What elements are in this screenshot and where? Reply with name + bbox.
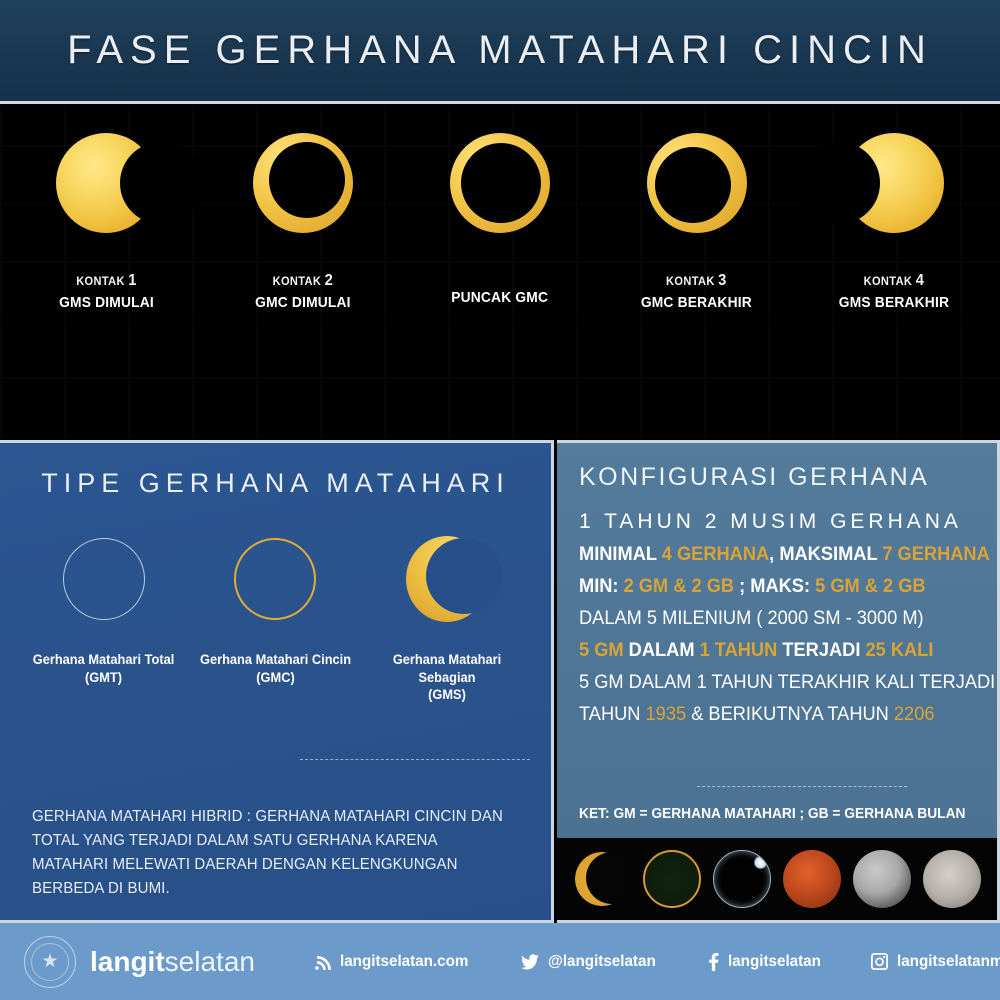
- brand-lockup: ★ langitselatan: [24, 936, 255, 988]
- infographic-root: FASE GERHANA MATAHARI CINCIN KONTAK 1 GM…: [0, 0, 1000, 1000]
- partial-lunar-eclipse-photo: [853, 850, 911, 908]
- facebook-handle: langitselatan: [728, 953, 821, 971]
- website-link[interactable]: langitselatan.com: [315, 953, 475, 971]
- header-banner: FASE GERHANA MATAHARI CINCIN: [0, 0, 1000, 104]
- footer-bar: ★ langitselatan langitselatan.com @langi…: [0, 923, 1000, 1000]
- phase-item-1: KONTAK 1 GMS DIMULAI: [11, 107, 201, 313]
- brand-name: langitselatan: [90, 946, 255, 978]
- facebook-icon: [708, 953, 719, 971]
- annular-eclipse-ring-icon: [234, 533, 316, 625]
- config-panel-title: KONFIGURASI GERHANA: [579, 463, 997, 492]
- total-eclipse-outline-icon: [63, 533, 145, 625]
- twitter-handle: @langitselatan: [548, 953, 656, 971]
- page-title: FASE GERHANA MATAHARI CINCIN: [67, 28, 933, 73]
- instagram-link[interactable]: langitselatanmedia: [871, 953, 1000, 971]
- sun-partial-right-icon: [56, 103, 156, 263]
- total-solar-eclipse-diamond-ring-photo: [713, 850, 771, 908]
- phase-contact-4: KONTAK 3: [641, 271, 752, 291]
- phase-item-2: KONTAK 2 GMC DIMULAI: [208, 107, 398, 313]
- partial-eclipse-crescent-icon: [406, 533, 488, 625]
- total-lunar-eclipse-blood-moon-photo: [783, 850, 841, 908]
- eclipse-types-panel: TIPE GERHANA MATAHARI Gerhana Matahari T…: [0, 440, 554, 923]
- sun-partial-left-icon: [844, 103, 944, 263]
- eclipse-photo-strip: [557, 838, 997, 920]
- phase-contact-1: KONTAK 1: [59, 271, 154, 291]
- right-panel-divider: [697, 786, 907, 787]
- config-line-last-occurrence: 5 GM DALAM 1 TAHUN TERAKHIR KALI TERJADI: [579, 672, 980, 694]
- annular-ring-max-icon: [450, 103, 550, 263]
- annular-ring-icon: [253, 103, 353, 263]
- annular-solar-eclipse-photo: [643, 850, 701, 908]
- twitter-link[interactable]: @langitselatan: [521, 953, 661, 971]
- twitter-icon: [521, 954, 539, 970]
- hybrid-eclipse-note: GERHANA MATAHARI HIBRID : GERHANA MATAHA…: [32, 805, 512, 901]
- eclipse-types-list: Gerhana Matahari Total(GMT) Gerhana Mata…: [0, 533, 551, 704]
- rss-icon: [315, 954, 331, 970]
- config-headline: 1 TAHUN 2 MUSIM GERHANA: [579, 510, 997, 534]
- phase-item-3: PUNCAK GMC: [405, 107, 595, 308]
- penumbral-lunar-eclipse-photo: [923, 850, 981, 908]
- annular-ring-ending-icon: [647, 103, 747, 263]
- phase-contact-5: KONTAK 4: [838, 271, 948, 291]
- facebook-link[interactable]: langitselatan: [708, 953, 826, 971]
- eclipse-type-total-label: Gerhana Matahari Total(GMT): [33, 651, 175, 686]
- website-handle: langitselatan.com: [340, 953, 468, 971]
- phase-item-5: KONTAK 4 GMS BERAKHIR: [799, 107, 989, 313]
- phase-label-5: GMS BERAKHIR: [838, 294, 948, 313]
- config-line-years: TAHUN 1935 & BERIKUTNYA TAHUN 2206: [579, 704, 980, 726]
- eclipse-type-annular: Gerhana Matahari Cincin(GMC): [195, 533, 355, 704]
- phase-label-4: GMC BERAKHIR: [641, 294, 752, 313]
- langitselatan-seal-logo: ★: [24, 936, 76, 988]
- legend-note: KET: GM = GERHANA MATAHARI ; GB = GERHAN…: [579, 806, 965, 822]
- phase-contact-2: KONTAK 2: [255, 271, 351, 291]
- eclipse-type-total: Gerhana Matahari Total(GMT): [24, 533, 184, 704]
- partial-solar-eclipse-photo: [573, 850, 631, 908]
- config-line-milenium: DALAM 5 MILENIUM ( 2000 SM - 3000 M): [579, 608, 980, 630]
- eclipse-type-annular-label: Gerhana Matahari Cincin(GMC): [200, 651, 351, 686]
- config-line-minimal: MINIMAL 4 GERHANA, MAKSIMAL 7 GERHANA: [579, 544, 980, 566]
- eclipse-type-partial-label: Gerhana Matahari Sebagian(GMS): [371, 651, 523, 704]
- phase-item-4: KONTAK 3 GMC BERAKHIR: [602, 107, 792, 313]
- left-panel-divider: [300, 759, 530, 760]
- instagram-icon: [871, 953, 888, 970]
- eclipse-type-partial: Gerhana Matahari Sebagian(GMS): [367, 533, 527, 704]
- phase-label-2: GMC DIMULAI: [255, 294, 351, 313]
- instagram-handle: langitselatanmedia: [897, 953, 1000, 971]
- phase-label-3: PUNCAK GMC: [452, 289, 549, 308]
- eclipse-phases-section: KONTAK 1 GMS DIMULAI KONTAK 2 GMC DIMULA…: [0, 107, 1000, 437]
- config-line-minmax: MIN: 2 GM & 2 GB ; MAKS: 5 GM & 2 GB: [579, 576, 980, 598]
- phase-label-1: GMS DIMULAI: [59, 294, 154, 313]
- social-links: langitselatan.com @langitselatan langits…: [315, 953, 1000, 971]
- types-panel-title: TIPE GERHANA MATAHARI: [0, 468, 551, 499]
- eclipse-configuration-panel: KONFIGURASI GERHANA 1 TAHUN 2 MUSIM GERH…: [557, 440, 1000, 923]
- config-line-5gm: 5 GM DALAM 1 TAHUN TERJADI 25 KALI: [579, 640, 980, 662]
